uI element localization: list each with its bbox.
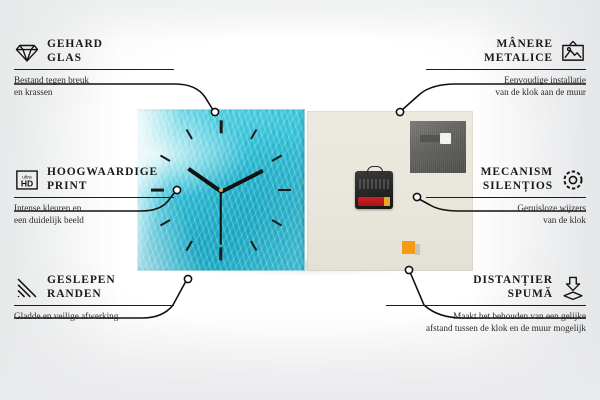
feature-title: GESLEPEN RANDEN xyxy=(47,274,116,301)
feature-title: DISTANȚIER SPUMĂ xyxy=(386,274,553,301)
spacer-stack-icon xyxy=(560,275,586,301)
feature-silent-mechanism[interactable]: MECANISM SILENȚIOS Geruisloze wijzers va… xyxy=(426,166,586,227)
feature-subtitle-line1: Eenvoudige installatie xyxy=(426,75,586,87)
feature-subtitle: Intense kleuren en een duidelijk beeld xyxy=(14,203,174,226)
feature-subtitle-line1: Bestand tegen breuk xyxy=(14,75,174,87)
feature-subtitle-line1: Gladde en veilige afwerking xyxy=(14,311,174,323)
feature-subtitle-line1: Maakt het behouden van een gelijke xyxy=(386,311,586,323)
mechanism-label xyxy=(359,179,389,189)
feature-title: MÂNERE METALICE xyxy=(484,38,553,65)
beveled-edges-icon xyxy=(14,275,40,301)
feature-title-line2: SILENȚIOS xyxy=(481,180,553,194)
feature-title-line1: DISTANȚIER xyxy=(386,274,553,288)
feature-divider xyxy=(426,69,586,70)
diamond-icon xyxy=(14,39,40,65)
feature-heading-row: GESLEPEN RANDEN xyxy=(14,274,174,301)
feature-subtitle-line2: van de klok xyxy=(426,215,586,227)
feature-subtitle-line1: Geruisloze wijzers xyxy=(426,203,586,215)
feature-title: HOOGWAARDIGE PRINT xyxy=(47,166,158,193)
ultra-hd-icon: ultra HD xyxy=(14,167,40,193)
foam-spacer xyxy=(402,241,415,254)
feature-subtitle-line1: Intense kleuren en xyxy=(14,203,174,215)
picture-frame-icon xyxy=(560,39,586,65)
feature-title-line2: PRINT xyxy=(47,180,158,194)
feature-divider xyxy=(386,305,586,306)
feature-subtitle: Geruisloze wijzers van de klok xyxy=(426,203,586,226)
feature-divider xyxy=(14,69,174,70)
infographic-canvas: GEHARD GLAS Bestand tegen breuk en krass… xyxy=(0,0,600,400)
product-image xyxy=(137,109,475,273)
feature-heading-row: MÂNERE METALICE xyxy=(426,38,586,65)
feature-ground-edges[interactable]: GESLEPEN RANDEN Gladde en veilige afwerk… xyxy=(14,274,174,323)
foam-spacer-shadow xyxy=(415,244,420,255)
background-vignette-top xyxy=(0,0,600,40)
gear-icon xyxy=(560,167,586,193)
feature-metal-handles[interactable]: MÂNERE METALICE Eenvoudige installatie v… xyxy=(426,38,586,99)
hanger-hole xyxy=(440,133,451,144)
feature-divider xyxy=(14,197,174,198)
feature-title-line2: METALICE xyxy=(484,52,553,66)
feature-foam-spacer[interactable]: DISTANȚIER SPUMĂ Maakt het behouden van … xyxy=(386,274,586,335)
feature-title-line1: MECANISM xyxy=(481,166,553,180)
feature-subtitle-line2: afstand tussen de klok en de muur mogeli… xyxy=(386,323,586,335)
feature-divider xyxy=(426,197,586,198)
battery-terminal xyxy=(384,197,390,206)
feature-subtitle: Eenvoudige installatie van de klok aan d… xyxy=(426,75,586,98)
aa-battery xyxy=(358,197,390,206)
feature-title-line2: SPUMĂ xyxy=(386,288,553,302)
feature-subtitle: Maakt het behouden van een gelijke afsta… xyxy=(386,311,586,334)
feature-heading-row: DISTANȚIER SPUMĂ xyxy=(386,274,586,301)
feature-subtitle: Gladde en veilige afwerking xyxy=(14,311,174,323)
feature-title-line2: RANDEN xyxy=(47,288,116,302)
feature-title-line1: HOOGWAARDIGE xyxy=(47,166,158,180)
feature-heading-row: GEHARD GLAS xyxy=(14,38,174,65)
clock-mechanism-box xyxy=(355,171,393,209)
feature-subtitle-line2: van de klok aan de muur xyxy=(426,87,586,99)
feature-title-line1: MÂNERE xyxy=(484,38,553,52)
feature-title: GEHARD GLAS xyxy=(47,38,103,65)
feature-subtitle-line2: een duidelijk beeld xyxy=(14,215,174,227)
feature-tempered-glass[interactable]: GEHARD GLAS Bestand tegen breuk en krass… xyxy=(14,38,174,99)
svg-text:HD: HD xyxy=(21,178,33,188)
feature-subtitle: Bestand tegen breuk en krassen xyxy=(14,75,174,98)
feature-heading-row: MECANISM SILENȚIOS xyxy=(426,166,586,193)
feature-title-line1: GEHARD xyxy=(47,38,103,52)
feature-title-line1: GESLEPEN xyxy=(47,274,116,288)
feature-subtitle-line2: en krassen xyxy=(14,87,174,99)
feature-divider xyxy=(14,305,174,306)
feature-title: MECANISM SILENȚIOS xyxy=(481,166,553,193)
feature-heading-row: ultra HD HOOGWAARDIGE PRINT xyxy=(14,166,174,193)
mechanism-hook xyxy=(367,166,383,175)
feature-high-quality-print[interactable]: ultra HD HOOGWAARDIGE PRINT Intense kleu… xyxy=(14,166,174,227)
feature-title-line2: GLAS xyxy=(47,52,103,66)
